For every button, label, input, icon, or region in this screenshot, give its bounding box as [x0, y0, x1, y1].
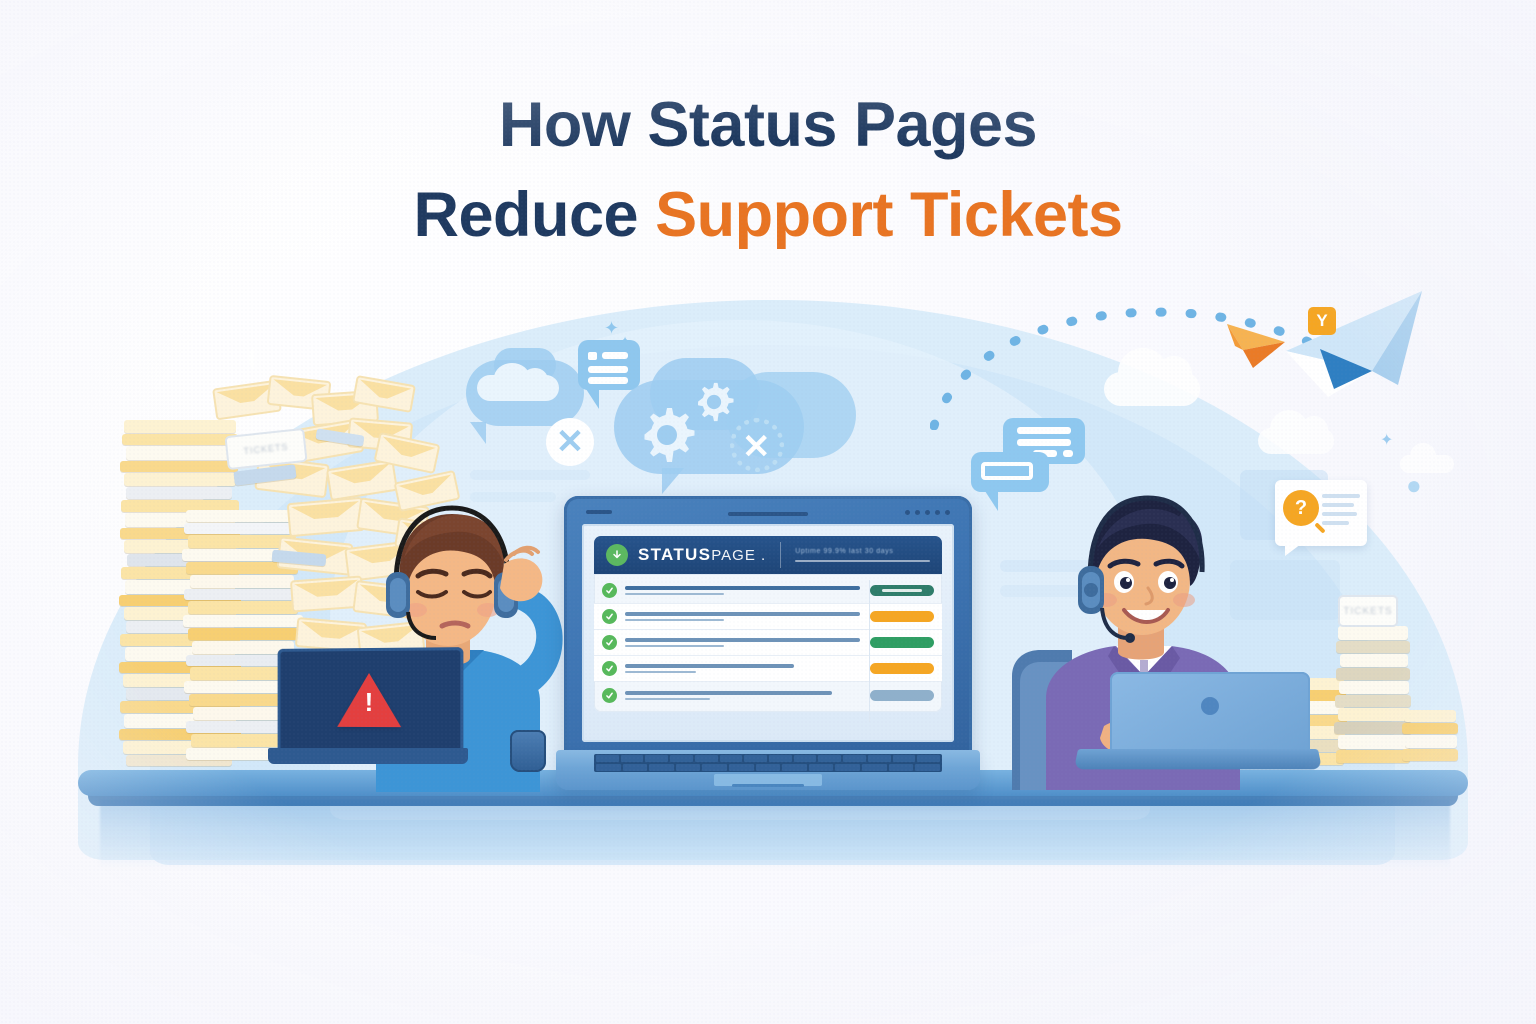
- laptop-lid: STATUSPAGE . Uptime 99.9% last 30 days: [564, 496, 972, 754]
- gears-cloud-tail: [662, 468, 684, 494]
- column-divider: [869, 580, 870, 722]
- meta-rule: [795, 560, 930, 562]
- service-name-placeholder: [625, 691, 860, 700]
- laptop-screen-alert: [278, 647, 464, 753]
- gear-icon: [692, 380, 736, 424]
- right-agent-laptop[interactable]: [1076, 672, 1320, 782]
- check-circle-icon: [602, 583, 617, 598]
- check-circle-icon: [602, 609, 617, 624]
- status-badge: [870, 637, 934, 648]
- bezel-dots: [905, 510, 950, 515]
- service-name-placeholder: [625, 638, 860, 647]
- check-circle-icon: [602, 688, 617, 703]
- header-divider: [780, 542, 781, 568]
- bezel-camera-bar: [728, 512, 808, 516]
- status-badge: [870, 585, 934, 596]
- table-row[interactable]: [594, 604, 942, 630]
- bezel-marking: [586, 510, 612, 514]
- plane-badge-icon: Y: [1308, 307, 1336, 335]
- status-page-meta: Uptime 99.9% last 30 days: [795, 548, 930, 562]
- service-name-placeholder: [625, 664, 860, 673]
- table-row[interactable]: [594, 630, 942, 656]
- cloud-icon: [1258, 428, 1334, 454]
- laptop-logo-dot: [1201, 697, 1219, 715]
- gear-icon: [636, 404, 698, 466]
- error-x-icon: ✕: [742, 430, 771, 464]
- table-row[interactable]: [594, 682, 942, 708]
- error-x-icon: ✕: [546, 418, 594, 466]
- mouse-device[interactable]: [510, 730, 546, 772]
- spark-icon: ✦: [1380, 430, 1393, 450]
- laptop-notch: [732, 784, 804, 787]
- status-page-brand: STATUSPAGE .: [638, 545, 766, 565]
- illustration-canvas: ✕ ✕ ✦ ✦ ✦ ●: [0, 0, 1536, 1024]
- title-line-2-plain: Reduce: [413, 180, 655, 250]
- page-title: How Status Pages Reduce Support Tickets: [0, 78, 1536, 264]
- laptop-base: [268, 748, 468, 764]
- cloud-icon: [522, 368, 548, 392]
- download-circle-icon: [606, 544, 628, 566]
- status-page-laptop[interactable]: STATUSPAGE . Uptime 99.9% last 30 days: [556, 496, 980, 796]
- chat-bubble-icon: [578, 340, 640, 390]
- service-name-placeholder: [625, 612, 860, 621]
- status-badge: [870, 690, 934, 701]
- laptop-base: [556, 750, 980, 790]
- check-circle-icon: [602, 635, 617, 650]
- cloud-icon: [248, 345, 332, 373]
- balloon-icon: ●: [1406, 470, 1422, 501]
- check-circle-icon: [602, 661, 617, 676]
- ticket-label-tag: TICKETS: [1338, 595, 1398, 627]
- laptop-lid: [1110, 672, 1310, 754]
- title-line-2: Reduce Support Tickets: [0, 168, 1536, 264]
- warning-triangle-icon: [337, 673, 401, 727]
- status-page-header: STATUSPAGE . Uptime 99.9% last 30 days: [594, 536, 942, 574]
- uptime-meta-text: Uptime 99.9% last 30 days: [795, 548, 930, 555]
- title-line-2-accent: Support Tickets: [655, 180, 1122, 250]
- laptop-screen[interactable]: STATUSPAGE . Uptime 99.9% last 30 days: [582, 524, 954, 742]
- brand-strong: STATUS: [638, 545, 711, 564]
- paper-plane-icon: [1280, 285, 1430, 405]
- spark-icon: ✦: [604, 318, 619, 339]
- status-page-rows: [594, 574, 942, 712]
- left-agent-laptop[interactable]: [268, 648, 468, 768]
- service-name-placeholder: [625, 586, 860, 595]
- spark-icon: ✦: [620, 334, 630, 348]
- table-row[interactable]: [594, 578, 942, 604]
- title-line-1: How Status Pages: [0, 78, 1536, 174]
- laptop-keyboard[interactable]: [594, 754, 942, 772]
- table-row[interactable]: [594, 656, 942, 682]
- status-badge: [870, 611, 934, 622]
- status-badge: [870, 663, 934, 674]
- laptop-base: [1074, 749, 1322, 769]
- brand-light: PAGE .: [711, 547, 766, 564]
- desk-reflection: [100, 800, 1450, 870]
- help-card-lines: [1322, 494, 1360, 530]
